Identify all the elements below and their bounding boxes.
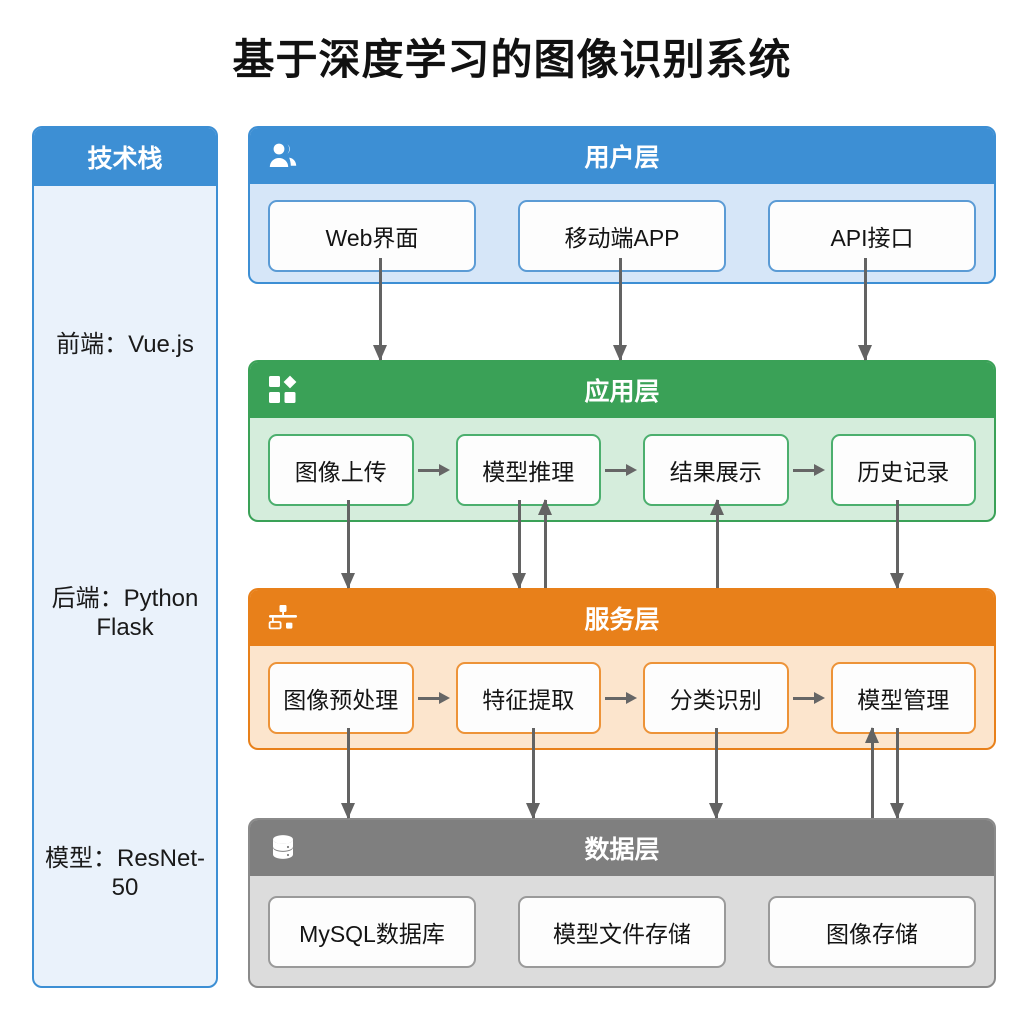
node-model-management[interactable]: 模型管理 xyxy=(831,662,977,734)
layer-service-body: 图像预处理 特征提取 分类识别 模型管理 xyxy=(250,646,994,750)
flow-arrow-app-3 xyxy=(789,464,831,476)
node-image-preprocess[interactable]: 图像预处理 xyxy=(268,662,414,734)
flow-arrow-svc-1 xyxy=(414,692,456,704)
layer-service-title: 服务层 xyxy=(250,600,994,636)
layer-data-body: MySQL数据库 模型文件存储 图像存储 xyxy=(250,876,994,988)
node-api-interface[interactable]: API接口 xyxy=(768,200,976,272)
node-image-storage[interactable]: 图像存储 xyxy=(768,896,976,968)
node-image-upload[interactable]: 图像上传 xyxy=(268,434,414,506)
tech-stack-panel: 技术栈 前端：Vue.js 后端：Python Flask 模型：ResNet-… xyxy=(32,126,218,988)
layer-user: 用户层 Web界面 移动端APP API接口 xyxy=(248,126,996,284)
node-classification[interactable]: 分类识别 xyxy=(643,662,789,734)
sliders-icon xyxy=(266,601,300,635)
node-mobile-app[interactable]: 移动端APP xyxy=(518,200,726,272)
tech-stack-header: 技术栈 xyxy=(34,128,216,186)
layer-application-title: 应用层 xyxy=(250,372,994,408)
layer-user-title: 用户层 xyxy=(250,138,994,174)
flow-arrow-svc-2 xyxy=(601,692,643,704)
layer-service: 服务层 图像预处理 特征提取 分类识别 模型管理 xyxy=(248,588,996,750)
flow-arrow-app-2 xyxy=(601,464,643,476)
node-history-record[interactable]: 历史记录 xyxy=(831,434,977,506)
layer-data: 数据层 MySQL数据库 模型文件存储 图像存储 xyxy=(248,818,996,988)
layer-application-header: 应用层 xyxy=(250,362,994,418)
layer-data-title: 数据层 xyxy=(250,830,994,866)
flow-arrow-svc-3 xyxy=(789,692,831,704)
tech-stack-body: 前端：Vue.js 后端：Python Flask 模型：ResNet-50 xyxy=(34,186,216,986)
node-web-interface[interactable]: Web界面 xyxy=(268,200,476,272)
users-icon xyxy=(266,139,300,173)
layer-application-body: 图像上传 模型推理 结果展示 历史记录 xyxy=(250,418,994,522)
layer-user-body: Web界面 移动端APP API接口 xyxy=(250,184,994,284)
database-icon xyxy=(266,831,300,865)
tech-stack-item-frontend: 前端：Vue.js xyxy=(34,330,216,359)
tech-stack-item-backend: 后端：Python Flask xyxy=(34,584,216,643)
node-feature-extraction[interactable]: 特征提取 xyxy=(456,662,602,734)
node-mysql-database[interactable]: MySQL数据库 xyxy=(268,896,476,968)
layer-data-header: 数据层 xyxy=(250,820,994,876)
tech-stack-item-model: 模型：ResNet-50 xyxy=(34,844,216,903)
layer-service-header: 服务层 xyxy=(250,590,994,646)
grid-apps-icon xyxy=(266,373,300,407)
node-model-inference[interactable]: 模型推理 xyxy=(456,434,602,506)
layer-user-header: 用户层 xyxy=(250,128,994,184)
page-title: 基于深度学习的图像识别系统 xyxy=(0,26,1024,87)
layer-application: 应用层 图像上传 模型推理 结果展示 历史记录 xyxy=(248,360,996,522)
flow-arrow-app-1 xyxy=(414,464,456,476)
node-model-file-storage[interactable]: 模型文件存储 xyxy=(518,896,726,968)
node-result-display[interactable]: 结果展示 xyxy=(643,434,789,506)
